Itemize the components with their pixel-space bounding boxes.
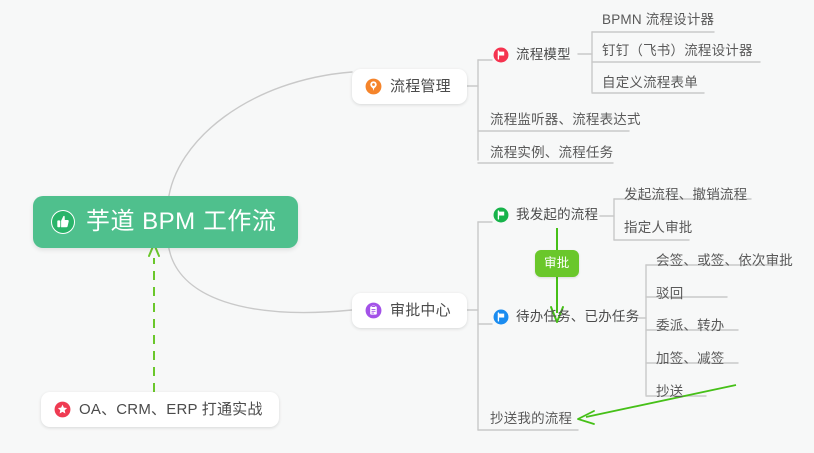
thumbs-up-icon bbox=[51, 210, 75, 234]
leaf-assignee-approval[interactable]: 指定人审批 bbox=[624, 221, 693, 241]
leaf-start-cancel-process[interactable]: 发起流程、撤销流程 bbox=[624, 188, 747, 208]
leaf-bpmn-designer[interactable]: BPMN 流程设计器 bbox=[602, 13, 714, 33]
approval-annotation-chip: 审批 bbox=[535, 250, 579, 277]
root-label: 芋道 BPM 工作流 bbox=[86, 210, 276, 234]
leaf-reject[interactable]: 驳回 bbox=[656, 287, 683, 307]
branch-label-approval-center: 审批中心 bbox=[390, 303, 451, 318]
sub-label-process-model: 流程模型 bbox=[516, 48, 571, 62]
clipboard-icon bbox=[365, 302, 382, 319]
bottom-note-label: OA、CRM、ERP 打通实战 bbox=[79, 402, 263, 417]
link-root-to-process-management bbox=[168, 72, 352, 202]
leaf-countersign[interactable]: 会签、或签、依次审批 bbox=[656, 254, 793, 274]
branch-node-approval-center[interactable]: 审批中心 bbox=[352, 293, 467, 328]
flag-icon bbox=[492, 46, 509, 63]
sub-node-my-initiated[interactable]: 我发起的流程 bbox=[492, 206, 598, 229]
root-node[interactable]: 芋道 BPM 工作流 bbox=[33, 196, 298, 248]
leaf-delegate-transfer[interactable]: 委派、转办 bbox=[656, 319, 725, 339]
sub-node-todo-done-tasks[interactable]: 待办任务、已办任务 bbox=[492, 308, 639, 331]
flag-icon bbox=[492, 308, 509, 325]
mindmap-canvas: 芋道 BPM 工作流 流程管理 流程模型 BPMN 流程设计器 钉钉（飞书）流程… bbox=[0, 0, 814, 453]
sub-node-process-model[interactable]: 流程模型 bbox=[492, 46, 571, 69]
branch-label-process-management: 流程管理 bbox=[390, 79, 451, 94]
lightbulb-pin-icon bbox=[365, 78, 382, 95]
sub-label-my-initiated: 我发起的流程 bbox=[516, 208, 598, 222]
leaf-cc[interactable]: 抄送 bbox=[656, 385, 683, 405]
leaf-dingtalk-designer[interactable]: 钉钉（飞书）流程设计器 bbox=[602, 44, 753, 64]
flag-icon bbox=[492, 206, 509, 223]
star-icon bbox=[54, 401, 71, 418]
bottom-note-card[interactable]: OA、CRM、ERP 打通实战 bbox=[41, 392, 279, 427]
leaf-listener-expression[interactable]: 流程监听器、流程表达式 bbox=[490, 113, 641, 133]
dashed-green-link bbox=[149, 244, 159, 392]
leaf-cc-to-me[interactable]: 抄送我的流程 bbox=[490, 412, 572, 432]
branch-node-process-management[interactable]: 流程管理 bbox=[352, 69, 467, 104]
leaf-custom-form[interactable]: 自定义流程表单 bbox=[602, 76, 698, 96]
link-root-to-approval-center bbox=[168, 243, 352, 312]
sub-label-todo-done-tasks: 待办任务、已办任务 bbox=[516, 310, 639, 324]
leaf-add-remove-sign[interactable]: 加签、减签 bbox=[656, 352, 725, 372]
leaf-instance-task[interactable]: 流程实例、流程任务 bbox=[490, 146, 613, 166]
